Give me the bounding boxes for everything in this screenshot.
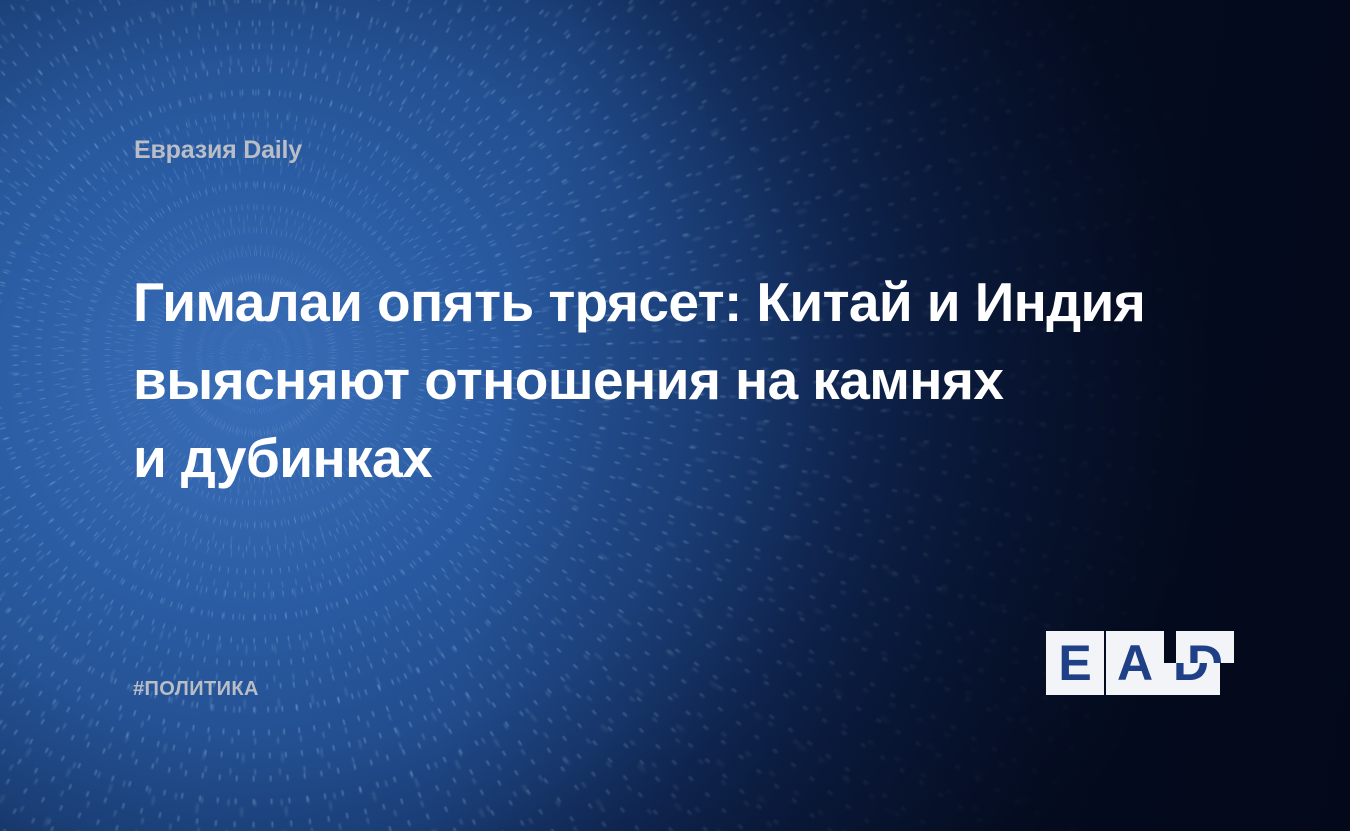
page-title: Гималаи опять трясет: Китай и Индия выяс… xyxy=(133,263,1193,497)
ead-logo-letter-d-lower: D xyxy=(1162,663,1220,695)
ead-logo-letter-d-upper: D xyxy=(1176,631,1234,663)
ead-logo-letter-d-top-half: D xyxy=(1176,631,1234,663)
headline-line-1: Гималаи опять трясет: Китай и Индия xyxy=(133,263,1193,341)
news-share-card: Евразия Daily Гималаи опять трясет: Кита… xyxy=(0,0,1350,831)
headline-line-3: и дубинках xyxy=(133,419,1193,497)
headline-line-2: выясняют отношения на камнях xyxy=(133,341,1193,419)
ead-logo-tile-e: E xyxy=(1046,631,1104,695)
brand-wordmark: Евразия Daily xyxy=(134,136,302,165)
ead-logo-letter-d-bottom-half: D xyxy=(1162,663,1220,695)
category-hashtag: #ПОЛИТИКА xyxy=(133,678,259,701)
ead-logo-tile-d: D D xyxy=(1166,631,1224,695)
ead-logo-tile-a: A xyxy=(1106,631,1164,695)
ead-logo: E A D D xyxy=(1046,631,1224,695)
ead-logo-letter-e: E xyxy=(1046,631,1104,695)
ead-logo-letter-a: A xyxy=(1106,631,1164,695)
card-content: Евразия Daily Гималаи опять трясет: Кита… xyxy=(0,0,1350,831)
